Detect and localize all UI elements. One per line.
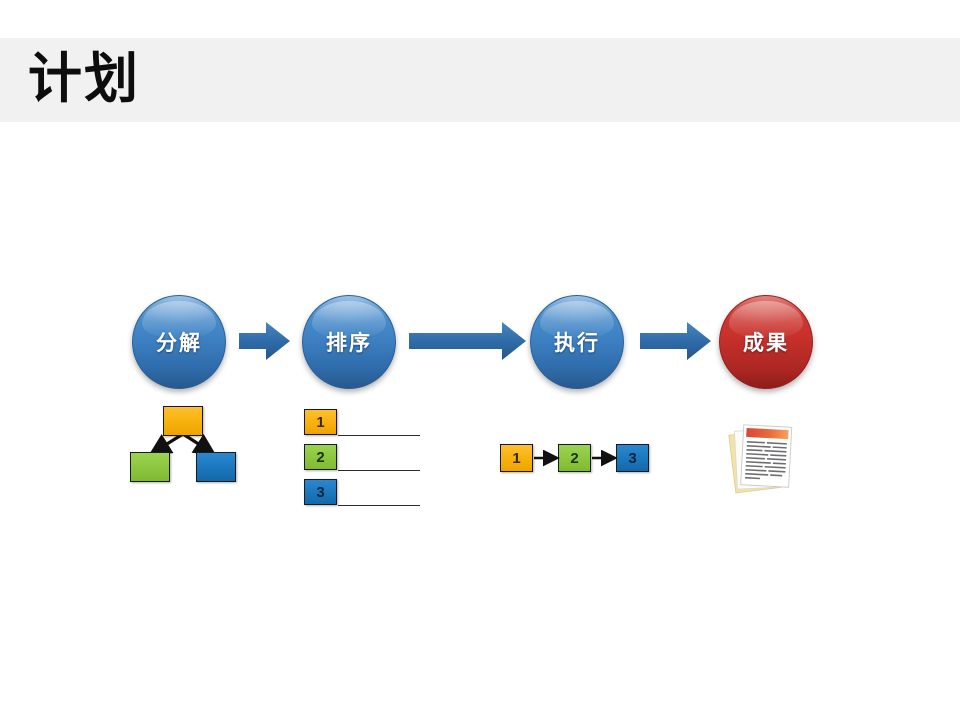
process-step-execute[interactable]: 执行: [530, 295, 624, 389]
sort-list-rule-1: [338, 435, 420, 436]
process-step-label: 成果: [743, 327, 789, 357]
execute-sequence-number: 3: [628, 450, 636, 467]
process-step-decompose[interactable]: 分解: [132, 295, 226, 389]
slide-canvas: 计划 分解 排序 执行 成果: [0, 0, 960, 720]
execute-sequence-item-3[interactable]: 3: [616, 444, 649, 472]
sort-list-item-number: 3: [316, 484, 324, 501]
page-title: 计划: [28, 46, 140, 112]
sort-list-item-number: 2: [316, 449, 324, 466]
document-stack-icon: [728, 420, 802, 496]
sort-list-item-number: 1: [316, 414, 324, 431]
process-step-label: 执行: [554, 327, 600, 357]
execute-sequence-item-1[interactable]: 1: [500, 444, 533, 472]
decompose-parent-box[interactable]: [163, 406, 203, 436]
arrow-execute-to-result-icon: [640, 320, 712, 362]
sort-list-rule-2: [338, 470, 420, 471]
process-step-label: 排序: [326, 327, 372, 357]
execute-sequence-number: 1: [512, 450, 520, 467]
process-step-result[interactable]: 成果: [719, 295, 813, 389]
execute-sequence-number: 2: [570, 450, 578, 467]
sort-list-item-2[interactable]: 2: [304, 444, 337, 470]
decompose-child-box-left[interactable]: [130, 452, 170, 482]
execute-sequence-item-2[interactable]: 2: [558, 444, 591, 472]
sort-list-item-1[interactable]: 1: [304, 409, 337, 435]
arrow-sort-to-execute-icon: [409, 320, 527, 362]
title-band: [0, 38, 960, 122]
sort-list-item-3[interactable]: 3: [304, 479, 337, 505]
arrow-decompose-to-sort-icon: [239, 320, 291, 362]
process-step-sort[interactable]: 排序: [302, 295, 396, 389]
decompose-child-box-right[interactable]: [196, 452, 236, 482]
process-step-label: 分解: [156, 327, 202, 357]
sort-list-rule-3: [338, 505, 420, 506]
